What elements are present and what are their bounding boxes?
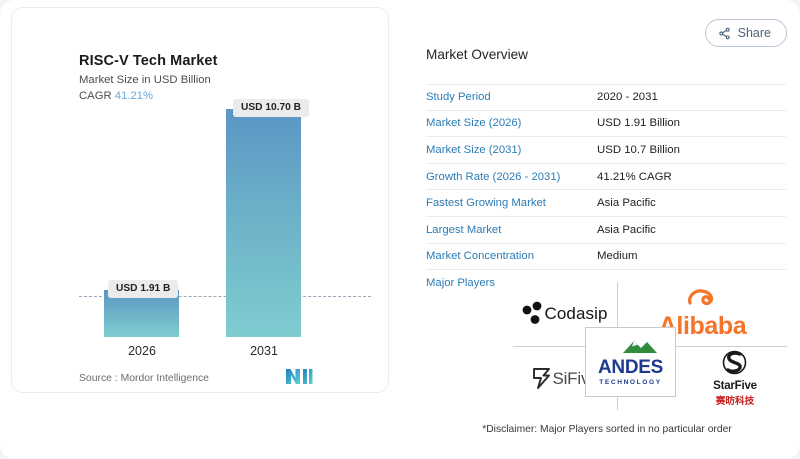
row-label: Market Size (2031) xyxy=(426,144,597,156)
andes-mountain-icon xyxy=(601,338,659,354)
starfive-mark-icon xyxy=(722,350,747,375)
row-value: Medium xyxy=(597,250,638,262)
row-value: USD 1.91 Billion xyxy=(597,117,680,129)
source-attribution: Source : Mordor Intelligence xyxy=(79,373,209,384)
row-label: Market Size (2026) xyxy=(426,117,597,129)
starfive-wordmark: StarFive xyxy=(713,380,757,392)
logo-andes: ANDES TECHNOLOGY xyxy=(585,327,676,397)
table-row: Growth Rate (2026 - 2031) 41.21% CAGR xyxy=(426,164,786,191)
table-row: Market Size (2031) USD 10.7 Billion xyxy=(426,137,786,164)
row-value: 2020 - 2031 xyxy=(597,91,658,103)
x-axis-tick-2031: 2031 xyxy=(219,344,309,358)
market-snapshot-page: RISC-V Tech Market Market Size in USD Bi… xyxy=(0,0,800,459)
x-axis-tick-2026: 2026 xyxy=(97,344,187,358)
row-value: USD 10.7 Billion xyxy=(597,144,680,156)
andes-sub-wordmark: TECHNOLOGY xyxy=(598,379,663,386)
bar-2031 xyxy=(226,109,301,337)
chart-card: RISC-V Tech Market Market Size in USD Bi… xyxy=(11,7,389,393)
major-players-logo-grid: Codasip Alibaba SiFive xyxy=(513,282,787,410)
logo-starfive: StarFive 赛昉科技 xyxy=(683,347,787,410)
overview-title: Market Overview xyxy=(426,47,528,62)
row-value: Asia Pacific xyxy=(597,224,656,236)
table-row: Largest Market Asia Pacific xyxy=(426,217,786,244)
share-icon xyxy=(718,27,731,40)
bar-value-label-2031: USD 10.70 B xyxy=(233,99,309,117)
row-label: Study Period xyxy=(426,91,597,103)
market-overview-panel: Share Market Overview Study Period 2020 … xyxy=(412,0,800,459)
table-row: Market Concentration Medium xyxy=(426,244,786,271)
row-label: Largest Market xyxy=(426,224,597,236)
row-value: 41.21% CAGR xyxy=(597,171,672,183)
table-row: Study Period 2020 - 2031 xyxy=(426,84,786,111)
share-button[interactable]: Share xyxy=(705,19,787,47)
bar-chart-plot: USD 10.70 B USD 1.91 B 2026 2031 xyxy=(12,8,390,394)
row-label: Growth Rate (2026 - 2031) xyxy=(426,171,597,183)
table-row: Market Size (2026) USD 1.91 Billion xyxy=(426,111,786,138)
sifive-mark-icon xyxy=(531,366,552,391)
codasip-wordmark: Codasip xyxy=(544,304,607,324)
alibaba-mark-icon xyxy=(682,287,724,307)
mordor-intelligence-logo xyxy=(284,367,314,387)
andes-wordmark: ANDES xyxy=(598,359,663,377)
starfive-wordmark-cn: 赛昉科技 xyxy=(713,393,757,407)
share-button-label: Share xyxy=(738,26,771,40)
codasip-dots-icon xyxy=(522,301,544,327)
overview-table: Study Period 2020 - 2031 Market Size (20… xyxy=(426,84,786,297)
bar-value-label-2026: USD 1.91 B xyxy=(108,280,178,298)
row-label: Market Concentration xyxy=(426,250,597,262)
table-row: Fastest Growing Market Asia Pacific xyxy=(426,190,786,217)
row-label: Fastest Growing Market xyxy=(426,197,597,209)
disclaimer-text: *Disclaimer: Major Players sorted in no … xyxy=(422,424,792,435)
row-value: Asia Pacific xyxy=(597,197,656,209)
